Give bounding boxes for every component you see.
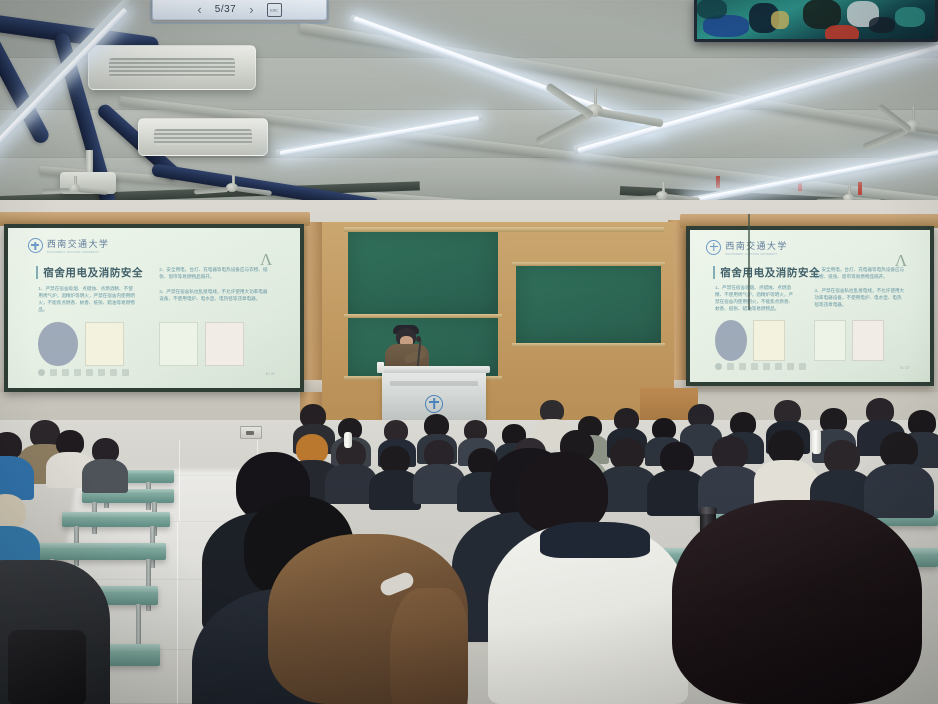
slide-bullet-1: 1、严禁在宿舍吸烟、点蜡烛、点燃酒精、不使用烤气炉，酒精炉等明火，严禁在宿舍内使… [715,284,795,312]
title-accent-bar [36,266,39,279]
slide-page-footer: 5 / 37 [266,372,275,376]
university-name-cn: 西南交通大学 [47,237,109,250]
water-bottle [344,432,352,448]
slide-footer-icon-row [715,363,806,370]
desk-lamp-illustration [814,320,846,361]
burning-mosquito-coil-illustration [753,320,785,361]
presentation-control-bar[interactable]: ‹ 5/37 › [152,0,327,20]
next-slide-icon[interactable]: › [249,3,253,16]
chalkboard-right [516,265,661,345]
water-cup [377,362,384,373]
slide-title: 宿舍用电及消防安全 [43,265,143,280]
slide-bullet-3: 3、严禁在宿舍私拉乱接电线，不允许使用大功率电器设备，不使用电炉、电水壶、电热毯… [159,288,269,302]
air-conditioner-unit [88,45,256,90]
slide-bullet-3: 3、严禁在宿舍私拉乱接电线，不允许使用大功率电器设备，不使用电炉、电水壶、电热毯… [814,287,905,308]
university-name-en: SOUTHWEST JIAOTONG UNIVERSITY [725,253,787,256]
podium-university-logo [425,395,443,413]
slide-bullet-2: 2、安全用电，台灯、充电器等电热设备应与衣物、纸张、窗帘等易燃物品隔开。 [159,266,269,280]
university-name-cn: 西南交通大学 [725,239,787,252]
slide-title: 宿舍用电及消防安全 [720,265,820,280]
wall-power-outlet [240,426,262,439]
no-electric-heater-illustration [852,320,884,361]
no-candle-illustration [38,322,77,365]
slide-page-indicator: 5/37 [215,4,236,15]
university-shield-icon [706,240,721,255]
water-bottle [812,430,821,454]
projection-screen-right: 西南交通大学 SOUTHWEST JIAOTONG UNIVERSITY Λ 宿… [686,226,934,386]
university-name-en: SOUTHWEST JIAOTONG UNIVERSITY [47,251,109,254]
no-electric-heater-illustration [205,322,244,365]
esc-monitor-icon[interactable] [267,3,282,17]
lecture-desk [62,512,170,527]
burning-mosquito-coil-illustration [85,322,124,365]
title-accent-bar [713,266,716,279]
slide-bullet-1: 1、严禁在宿舍吸烟、点蜡烛、点燃酒精、不使用烤气炉，酒精炉等明火，严禁在宿舍内使… [38,285,135,313]
prev-slide-icon[interactable]: ‹ [197,3,201,16]
lecture-hall-photo: ‹ 5/37 › 西南交通大学 SOUTHWEST JIAOTONG UNIVE… [0,0,938,704]
backpack [8,630,86,704]
slide-bullet-2: 2、安全用电，台灯、充电器等电热设备应与衣物、纸张、窗帘等易燃物品隔开。 [814,266,905,280]
microphone-icon [416,336,421,342]
no-candle-illustration [715,320,747,361]
slide-page-footer: 5 / 37 [900,366,909,370]
projection-screen-left: 西南交通大学 SOUTHWEST JIAOTONG UNIVERSITY Λ 宿… [4,224,304,392]
slide-content: 西南交通大学 SOUTHWEST JIAOTONG UNIVERSITY Λ 宿… [702,238,918,375]
university-logo: 西南交通大学 SOUTHWEST JIAOTONG UNIVERSITY [28,237,109,254]
ceiling-monitor [694,0,938,42]
slide-footer-icon-row [38,369,129,376]
air-conditioner-unit [138,118,268,156]
chalkboard-left-upper [348,230,498,317]
slide-content: 西南交通大学 SOUTHWEST JIAOTONG UNIVERSITY Λ 宿… [23,236,286,380]
university-shield-icon [28,238,43,253]
desk-lamp-illustration [159,322,198,365]
lecture-desk [36,543,166,560]
